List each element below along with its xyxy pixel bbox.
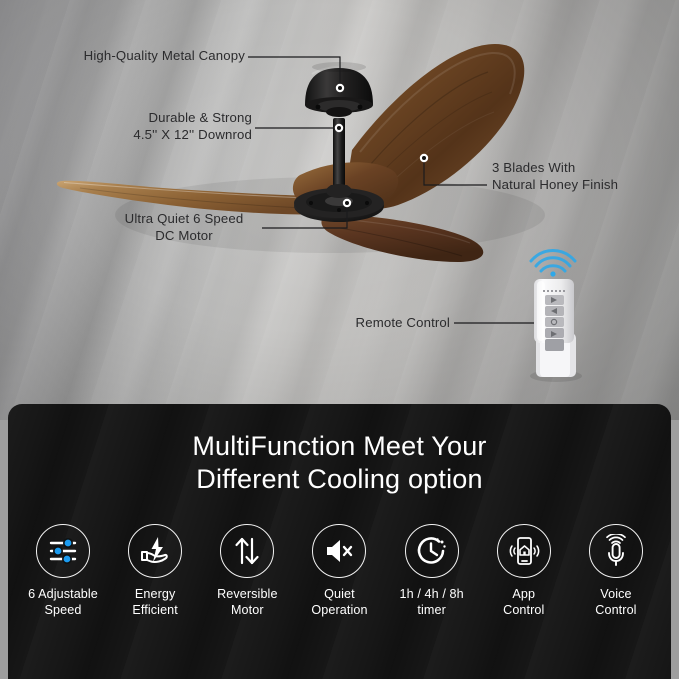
feature-icon-circle: [497, 524, 551, 578]
speaker-mute-icon: [322, 534, 356, 568]
callout-blades-label: 3 Blades With Natural Honey Finish: [492, 160, 667, 193]
sliders-icon: [46, 534, 80, 568]
timer-clock-icon: [415, 534, 449, 568]
panel-heading: MultiFunction Meet Your Different Coolin…: [8, 430, 671, 496]
wifi-signal-icon: [531, 251, 575, 272]
feature-icon-circle: [589, 524, 643, 578]
feature-icon-circle: [405, 524, 459, 578]
product-photo: High-Quality Metal Canopy Durable & Stro…: [0, 0, 679, 420]
feature-label: App Control: [503, 587, 544, 618]
feature-quiet-operation: Quiet Operation: [298, 524, 380, 618]
feature-label: Energy Efficient: [132, 587, 177, 618]
feature-label: Voice Control: [595, 587, 636, 618]
features-panel: MultiFunction Meet Your Different Coolin…: [8, 404, 671, 679]
feature-reversible-motor: Reversible Motor: [206, 524, 288, 618]
feature-icon-circle: [220, 524, 274, 578]
feature-label: Quiet Operation: [311, 587, 367, 618]
hand-lightning-icon: [138, 534, 172, 568]
feature-icon-circle: [128, 524, 182, 578]
feature-voice-control: Voice Control: [575, 524, 657, 618]
microphone-icon: [599, 534, 633, 568]
feature-label: 6 Adjustable Speed: [28, 587, 98, 618]
feature-app-control: App Control: [483, 524, 565, 618]
feature-icon-circle: [36, 524, 90, 578]
infographic-root: High-Quality Metal Canopy Durable & Stro…: [0, 0, 679, 679]
feature-energy-efficient: Energy Efficient: [114, 524, 196, 618]
callout-dc-motor-label: Ultra Quiet 6 Speed DC Motor: [110, 211, 258, 244]
features-row: 6 Adjustable Speed Energy Efficient: [8, 524, 671, 618]
up-down-arrows-icon: [230, 534, 264, 568]
remote-buttons: [545, 295, 564, 351]
feature-label: 1h / 4h / 8h timer: [400, 587, 464, 618]
remote-control: [530, 251, 582, 383]
callout-downrod-label: Durable & Strong 4.5'' X 12'' Downrod: [60, 110, 252, 143]
feature-label: Reversible Motor: [217, 587, 278, 618]
feature-adjustable-speed: 6 Adjustable Speed: [22, 524, 104, 618]
feature-timer: 1h / 4h / 8h timer: [391, 524, 473, 618]
callout-canopy-label: High-Quality Metal Canopy: [40, 48, 245, 65]
phone-home-icon: [507, 534, 541, 568]
callout-remote-label: Remote Control: [270, 315, 450, 332]
feature-icon-circle: [312, 524, 366, 578]
